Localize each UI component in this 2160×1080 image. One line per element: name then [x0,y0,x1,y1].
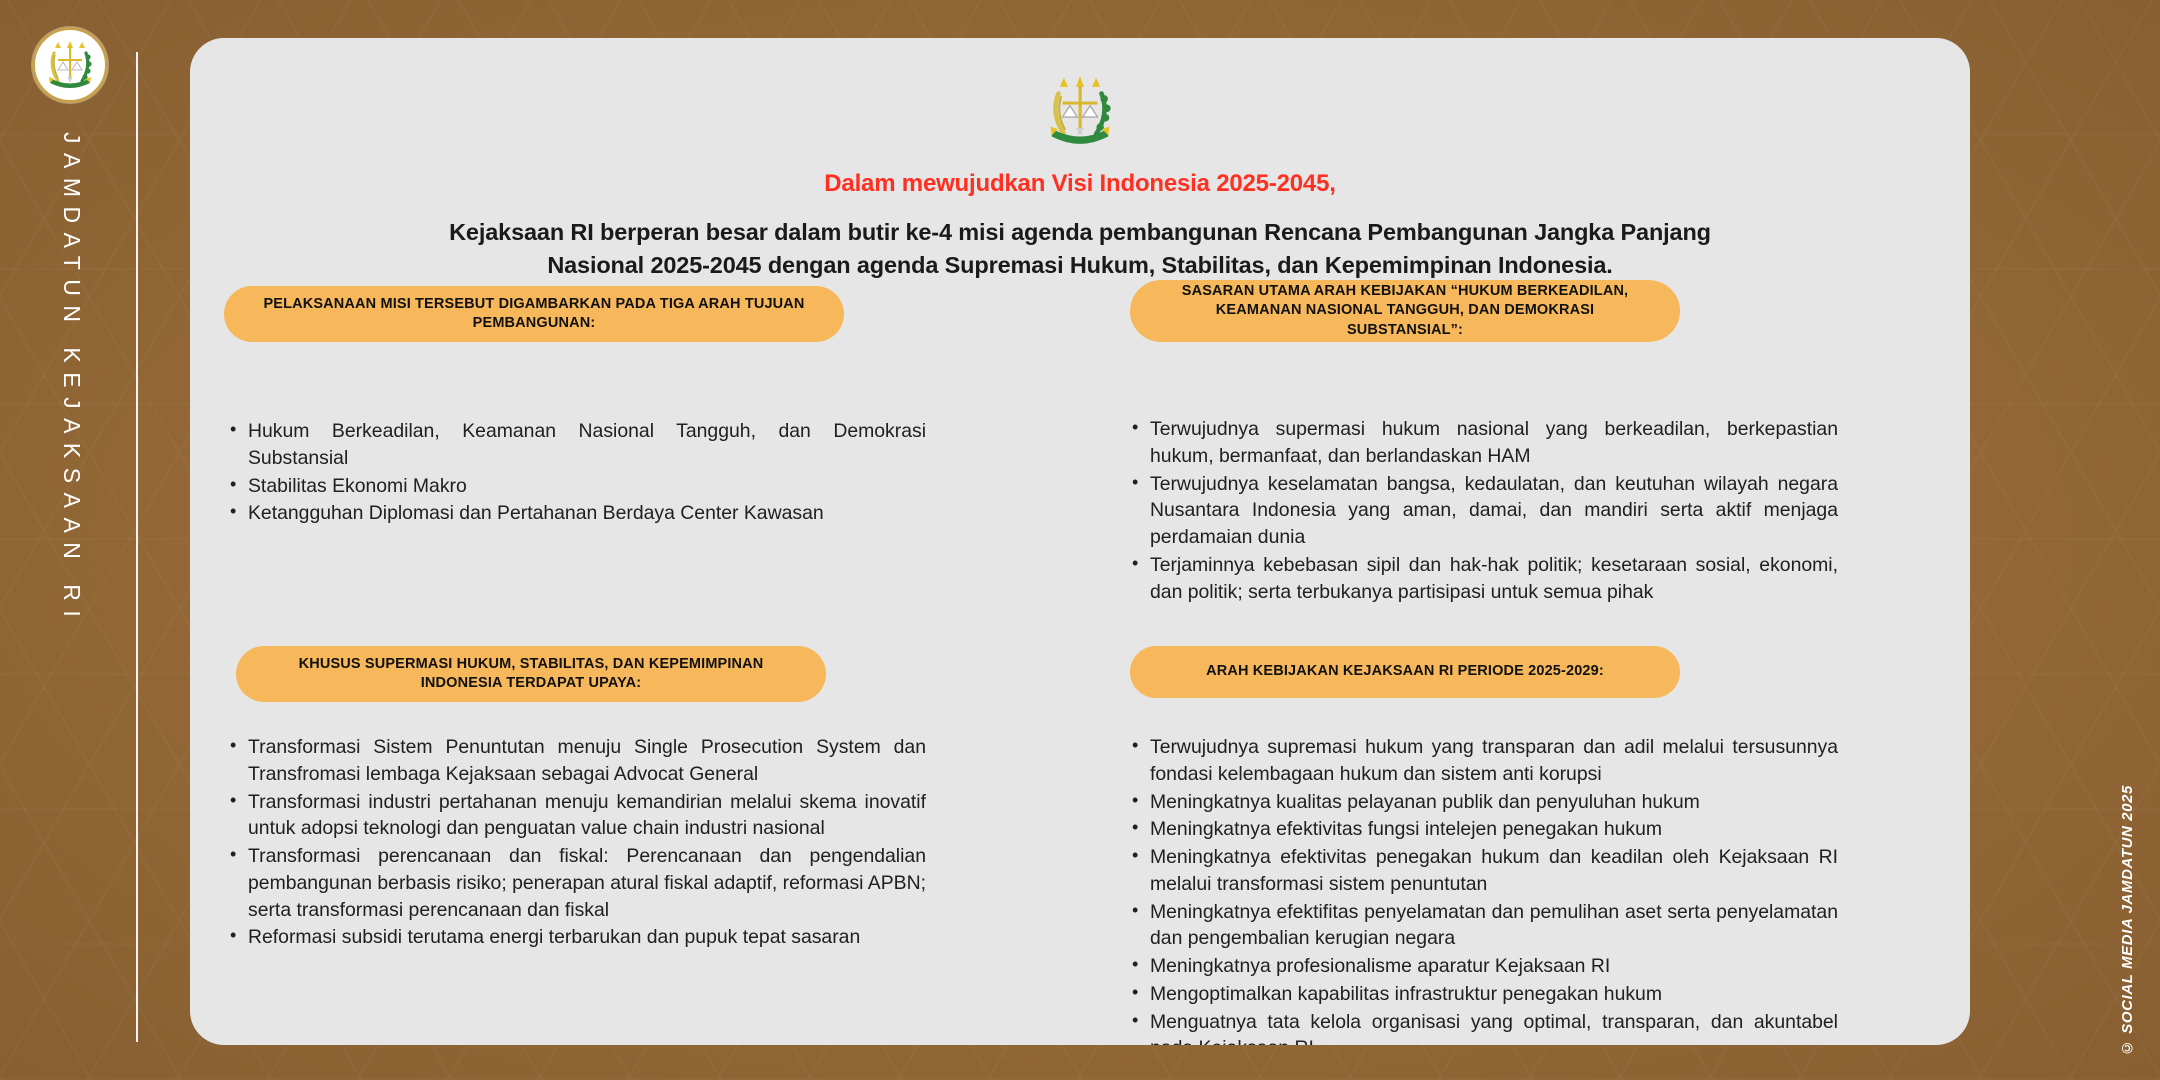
card-kejaksaan-emblem-icon [1037,68,1123,154]
right-sidebar: © SOCIAL MEDIA JAMDATUN 2025 [2070,0,2160,1080]
copyright-label: © SOCIAL MEDIA JAMDATUN 2025 [2119,785,2136,1056]
card-emblem-svg [1037,68,1123,154]
bullet-list-sasaran-utama: Terwujudnya supermasi hukum nasional yan… [1128,416,1838,606]
list-item: Hukum Berkeadilan, Keamanan Nasional Tan… [226,418,926,472]
list-item: Reformasi subsidi terutama energi terbar… [226,924,926,951]
headline-red: Dalam mewujudkan Visi Indonesia 2025-204… [190,170,1970,198]
pill-label: SASARAN UTAMA ARAH KEBIJAKAN “HUKUM BERK… [1156,282,1654,339]
headline-main: Kejaksaan RI berperan besar dalam butir … [400,216,1760,283]
bullet-list-pelaksanaan-misi: Hukum Berkeadilan, Keamanan Nasional Tan… [226,418,926,528]
list: Terwujudnya supremasi hukum yang transpa… [1128,734,1838,1045]
list-item: Mengoptimalkan kapabilitas infrastruktur… [1128,981,1838,1008]
bullet-list-arah-kebijakan: Terwujudnya supremasi hukum yang transpa… [1128,734,1838,1045]
bullet-list-khusus-supremasi: Transformasi Sistem Penuntutan menuju Si… [226,734,926,952]
list-item: Transformasi Sistem Penuntutan menuju Si… [226,734,926,788]
list-item: Meningkatnya efektifitas penyelamatan da… [1128,899,1838,953]
list: Terwujudnya supermasi hukum nasional yan… [1128,416,1838,605]
main-content-card: Dalam mewujudkan Visi Indonesia 2025-204… [190,38,1970,1045]
section-header-pelaksanaan-misi[interactable]: PELAKSANAAN MISI TERSEBUT DIGAMBARKAN PA… [224,286,844,342]
list-item: Meningkatnya efektivitas fungsi inteleje… [1128,816,1838,843]
pill-label: PELAKSANAAN MISI TERSEBUT DIGAMBARKAN PA… [250,295,818,333]
list-item: Meningkatnya profesionalisme aparatur Ke… [1128,953,1838,980]
list: Hukum Berkeadilan, Keamanan Nasional Tan… [226,418,926,527]
list-item: Meningkatnya efektivitas penegakan hukum… [1128,844,1838,898]
list-item: Ketangguhan Diplomasi dan Pertahanan Ber… [226,500,926,527]
list-item: Stabilitas Ekonomi Makro [226,473,926,500]
list-item: Terwujudnya supermasi hukum nasional yan… [1128,416,1838,470]
pill-label: KHUSUS SUPERMASI HUKUM, STABILITAS, DAN … [262,655,800,693]
sidebar-vertical-title: JAMDATUN KEJAKSAAN RI [58,132,85,626]
list: Transformasi Sistem Penuntutan menuju Si… [226,734,926,951]
list-item: Transformasi perencanaan dan fiskal: Per… [226,843,926,923]
list-item: Terwujudnya keselamatan bangsa, kedaulat… [1128,471,1838,551]
section-header-khusus-supremasi[interactable]: KHUSUS SUPERMASI HUKUM, STABILITAS, DAN … [236,646,826,702]
left-sidebar: JAMDATUN KEJAKSAAN RI [0,0,190,1080]
list-item: Terjaminnya kebebasan sipil dan hak-hak … [1128,552,1838,606]
section-header-sasaran-utama[interactable]: SASARAN UTAMA ARAH KEBIJAKAN “HUKUM BERK… [1130,280,1680,342]
list-item: Terwujudnya supremasi hukum yang transpa… [1128,734,1838,788]
list-item: Transformasi industri pertahanan menuju … [226,789,926,843]
list-item: Meningkatnya kualitas pelayanan publik d… [1128,789,1838,816]
sidebar-vertical-title-wrap: JAMDATUN KEJAKSAAN RI [0,0,190,1080]
pill-label: ARAH KEBIJAKAN KEJAKSAAN RI PERIODE 2025… [1206,662,1604,681]
list-item: Menguatnya tata kelola organisasi yang o… [1128,1009,1838,1045]
section-header-arah-kebijakan[interactable]: ARAH KEBIJAKAN KEJAKSAAN RI PERIODE 2025… [1130,646,1680,698]
